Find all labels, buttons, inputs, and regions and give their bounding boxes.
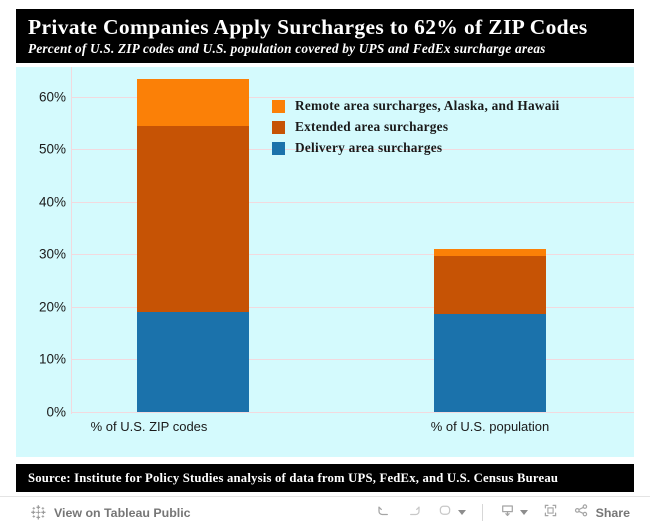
bar-segment-delivery[interactable] <box>434 314 546 412</box>
toolbar-actions: Share <box>368 501 637 525</box>
reset-button[interactable] <box>430 501 473 525</box>
tableau-logo-icon <box>30 504 47 521</box>
tableau-toolbar: View on Tableau Public <box>0 496 650 528</box>
chart-title-band: Private Companies Apply Surcharges to 62… <box>16 9 634 63</box>
chart-legend: Remote area surcharges, Alaska, and Hawa… <box>272 96 560 159</box>
chart-plot-area: 60% 50% 40% 30% 20% 10% 0% % of U.S. ZIP… <box>16 67 634 457</box>
share-icon <box>573 502 590 524</box>
chart-source-band: Source: Institute for Policy Studies ana… <box>16 464 634 492</box>
redo-button[interactable] <box>399 501 430 525</box>
undo-button[interactable] <box>368 501 399 525</box>
page-subtitle: Percent of U.S. ZIP codes and U.S. popul… <box>28 40 634 57</box>
view-on-tableau-public-link[interactable]: View on Tableau Public <box>30 504 191 521</box>
toolbar-divider <box>482 504 483 521</box>
bar-segment-remote[interactable] <box>137 79 249 126</box>
legend-label-extended: Extended area surcharges <box>295 119 448 135</box>
reset-caret-icon[interactable] <box>458 510 466 515</box>
legend-item-extended[interactable]: Extended area surcharges <box>272 117 560 137</box>
page-title: Private Companies Apply Surcharges to 62… <box>28 14 634 40</box>
share-button[interactable]: Share <box>566 501 637 525</box>
bar-segment-delivery[interactable] <box>137 312 249 412</box>
legend-label-delivery: Delivery area surcharges <box>295 140 442 156</box>
bar-segment-remote[interactable] <box>434 249 546 256</box>
fullscreen-button[interactable] <box>535 501 566 525</box>
bar-population[interactable] <box>434 249 546 412</box>
legend-swatch-delivery <box>272 142 285 155</box>
download-caret-icon[interactable] <box>520 510 528 515</box>
fullscreen-icon <box>542 502 559 524</box>
redo-icon <box>406 502 423 524</box>
legend-item-delivery[interactable]: Delivery area surcharges <box>272 138 560 158</box>
reset-icon <box>437 502 454 524</box>
bar-zip-codes[interactable] <box>137 79 249 412</box>
x-axis-label-zip-codes: % of U.S. ZIP codes <box>34 419 264 434</box>
undo-icon <box>375 502 392 524</box>
share-label: Share <box>596 506 630 520</box>
source-text: Source: Institute for Policy Studies ana… <box>28 471 558 486</box>
x-axis-label-population: % of U.S. population <box>375 419 605 434</box>
download-button[interactable] <box>492 501 535 525</box>
view-on-tableau-public-label: View on Tableau Public <box>54 506 191 520</box>
bar-segment-extended[interactable] <box>137 126 249 312</box>
bar-segment-extended[interactable] <box>434 256 546 314</box>
download-icon <box>499 502 516 524</box>
legend-swatch-remote <box>272 100 285 113</box>
legend-swatch-extended <box>272 121 285 134</box>
legend-label-remote: Remote area surcharges, Alaska, and Hawa… <box>295 98 560 114</box>
legend-item-remote[interactable]: Remote area surcharges, Alaska, and Hawa… <box>272 96 560 116</box>
tableau-viz-container: Private Companies Apply Surcharges to 62… <box>0 0 650 527</box>
